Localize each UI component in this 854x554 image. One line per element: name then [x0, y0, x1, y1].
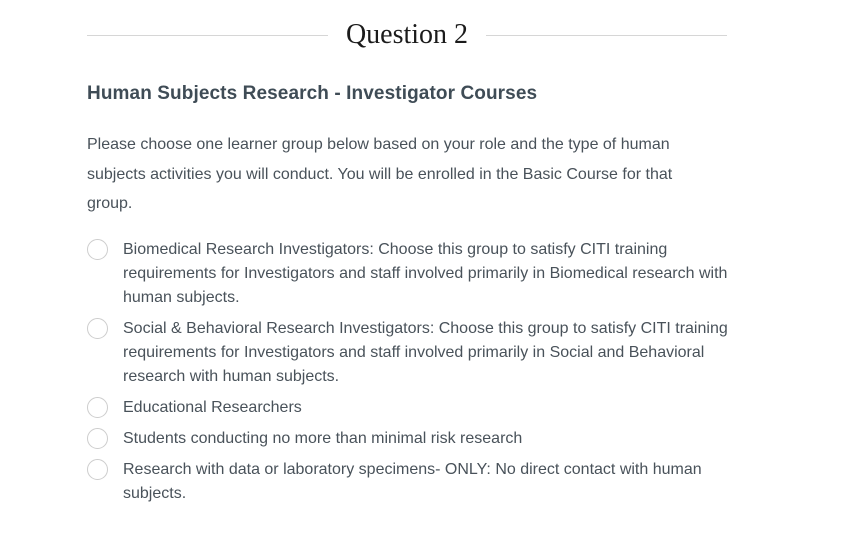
question-page: Question 2 Human Subjects Research - Inv…: [0, 0, 854, 554]
divider-rule-right: [486, 35, 727, 36]
radio-option-label[interactable]: Research with data or laboratory specime…: [123, 458, 737, 506]
radio-button-icon[interactable]: [87, 239, 108, 260]
section-heading: Human Subjects Research - Investigator C…: [87, 81, 747, 107]
radio-button-icon[interactable]: [87, 459, 108, 480]
radio-option-row[interactable]: Research with data or laboratory specime…: [87, 458, 737, 506]
question-header: Question 2: [87, 18, 727, 52]
learner-group-radio-list: Biomedical Research Investigators: Choos…: [87, 238, 737, 506]
divider-rule-left: [87, 35, 328, 36]
radio-button-icon[interactable]: [87, 397, 108, 418]
radio-option-row[interactable]: Biomedical Research Investigators: Choos…: [87, 238, 737, 310]
radio-option-label[interactable]: Educational Researchers: [123, 396, 737, 420]
question-title: Question 2: [328, 18, 486, 52]
radio-option-row[interactable]: Social & Behavioral Research Investigato…: [87, 317, 737, 389]
radio-button-icon[interactable]: [87, 428, 108, 449]
radio-option-row[interactable]: Students conducting no more than minimal…: [87, 427, 737, 451]
instruction-paragraph: Please choose one learner group below ba…: [87, 130, 711, 219]
radio-option-label[interactable]: Biomedical Research Investigators: Choos…: [123, 238, 737, 310]
radio-button-icon[interactable]: [87, 318, 108, 339]
radio-option-row[interactable]: Educational Researchers: [87, 396, 737, 420]
radio-option-label[interactable]: Social & Behavioral Research Investigato…: [123, 317, 737, 389]
radio-option-label[interactable]: Students conducting no more than minimal…: [123, 427, 737, 451]
